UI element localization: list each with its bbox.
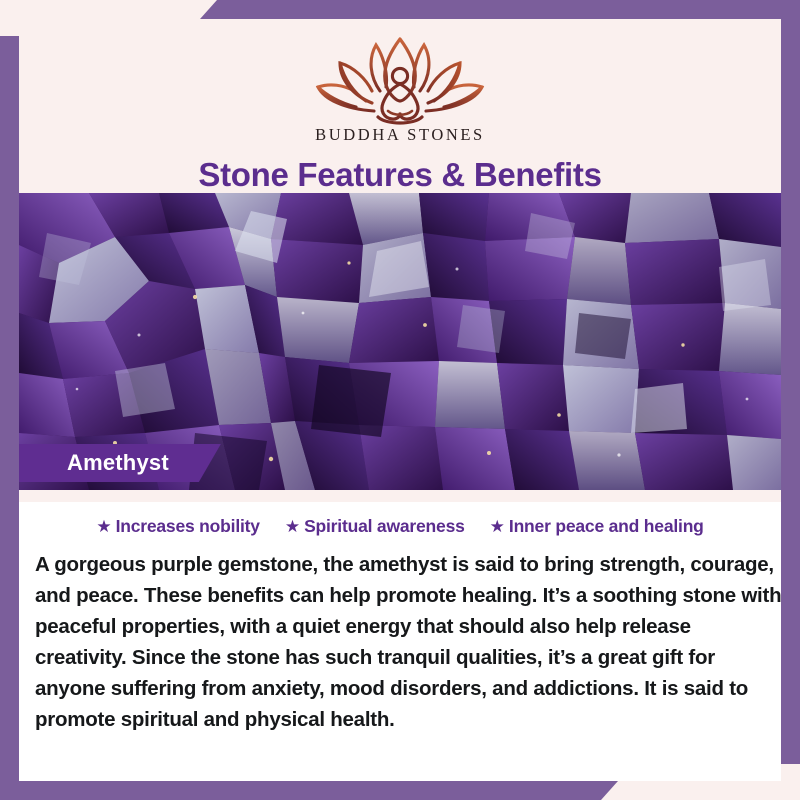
feature-label: Spiritual awareness [304,516,465,537]
content-panel: ★ Increases nobility ★ Spiritual awarene… [19,490,781,781]
feature-item: ★ Inner peace and healing [490,516,704,537]
feature-item: ★ Spiritual awareness [285,516,465,537]
panel-top-fade [19,490,781,502]
star-icon: ★ [96,518,111,535]
star-icon: ★ [490,518,505,535]
brand-name: BUDDHA STONES [315,125,485,145]
amethyst-crystal-cluster-photo: Amethyst [19,193,781,490]
feature-label: Inner peace and healing [509,516,704,537]
feature-list: ★ Increases nobility ★ Spiritual awarene… [19,516,781,537]
frame-band-top [200,0,800,19]
feature-label: Increases nobility [116,516,260,537]
infographic-card: BUDDHA STONES Stone Features & Benefits [0,0,800,800]
frame-band-left [0,36,19,800]
stone-description: A gorgeous purple gemstone, the amethyst… [35,549,783,735]
page-title: Stone Features & Benefits [198,156,601,194]
stone-name-label: Amethyst [67,450,169,476]
feature-item: ★ Increases nobility [96,516,260,537]
lotus-meditation-figure-icon [300,33,500,129]
stone-name-banner: Amethyst [19,444,221,482]
frame-band-bottom [0,781,618,800]
star-icon: ★ [285,518,300,535]
frame-band-right [781,0,800,764]
header: BUDDHA STONES Stone Features & Benefits [19,19,781,193]
